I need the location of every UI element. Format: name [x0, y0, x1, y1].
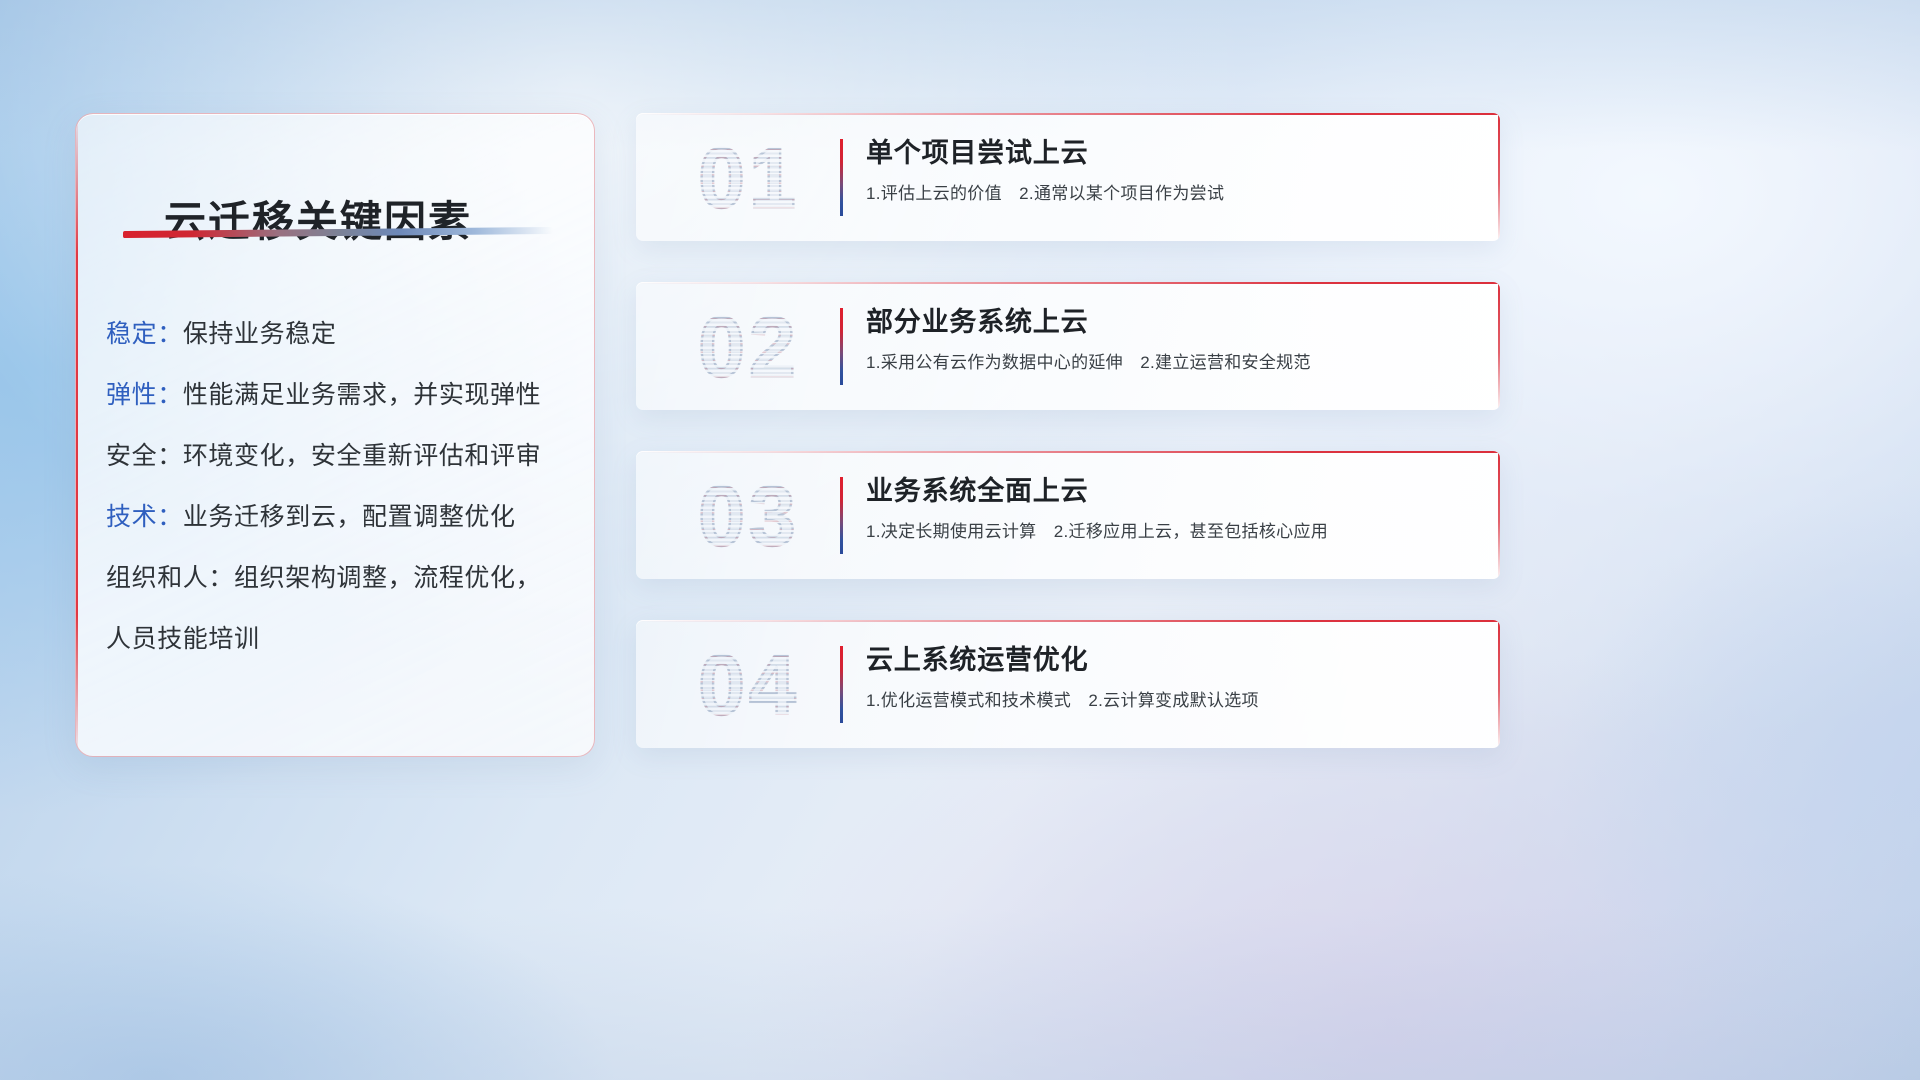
stage-card-description: 1.采用公有云作为数据中心的延伸 2.建立运营和安全规范: [866, 350, 1470, 375]
stage-number-outline: 04 04: [664, 632, 834, 738]
stage-card[interactable]: 01 01 单个项目尝试上云 1.评估上云的价值 2.通常以某个项目作为尝试: [636, 113, 1500, 241]
stage-number-glyph: 01: [664, 125, 834, 231]
stage-card-text: 部分业务系统上云 1.采用公有云作为数据中心的延伸 2.建立运营和安全规范: [866, 303, 1470, 375]
list-item-label: 安全：: [106, 442, 183, 470]
stage-number-glyph: 04: [664, 632, 834, 738]
list-item-text: 环境变化，安全重新评估和评审: [183, 442, 541, 470]
stage-number-glyph: 02: [664, 294, 834, 400]
list-item: 稳定：保持业务稳定: [106, 304, 568, 365]
list-item: 人员技能培训: [106, 609, 568, 670]
key-factors-list: 稳定：保持业务稳定 弹性：性能满足业务需求，并实现弹性 安全：环境变化，安全重新…: [106, 304, 568, 670]
stage-card-description: 1.评估上云的价值 2.通常以某个项目作为尝试: [866, 181, 1470, 206]
stage-card-description: 1.决定长期使用云计算 2.迁移应用上云，甚至包括核心应用: [866, 519, 1470, 544]
stage-number-outline: 01 01: [664, 125, 834, 231]
stage-card-text: 业务系统全面上云 1.决定长期使用云计算 2.迁移应用上云，甚至包括核心应用: [866, 472, 1470, 544]
slide-stage: 云迁移关键因素 稳定：保持业务稳定 弹性：性能满足业务需求，并实现弹性 安全：环…: [0, 0, 1920, 1080]
migration-stage-cards: 01 01 单个项目尝试上云 1.评估上云的价值 2.通常以某个项目作为尝试 0…: [636, 113, 1500, 789]
list-item-label: 稳定：: [106, 320, 183, 348]
key-factors-panel: 云迁移关键因素 稳定：保持业务稳定 弹性：性能满足业务需求，并实现弹性 安全：环…: [75, 113, 595, 757]
stage-card-title: 云上系统运营优化: [866, 641, 1470, 679]
list-item-label: 组织和人：: [106, 564, 234, 592]
accent-divider-bar: [840, 477, 843, 554]
list-item-label: 技术：: [106, 503, 183, 531]
stage-card-title: 部分业务系统上云: [866, 303, 1470, 341]
stage-number-glyph: 03: [664, 463, 834, 569]
accent-divider-bar: [840, 646, 843, 723]
list-item-text: 业务迁移到云，配置调整优化: [183, 503, 516, 531]
stage-card-title: 单个项目尝试上云: [866, 134, 1470, 172]
stage-card-description: 1.优化运营模式和技术模式 2.云计算变成默认选项: [866, 688, 1470, 713]
stage-number-glyph-tint: 01: [664, 125, 834, 231]
list-item: 组织和人：组织架构调整，流程优化，: [106, 548, 568, 609]
accent-divider-bar: [840, 139, 843, 216]
accent-divider-bar: [840, 308, 843, 385]
list-item-label: 弹性：: [106, 381, 183, 409]
list-item-text: 人员技能培训: [106, 625, 260, 653]
list-item: 技术：业务迁移到云，配置调整优化: [106, 487, 568, 548]
list-item-text: 保持业务稳定: [183, 320, 337, 348]
stage-card[interactable]: 03 03 业务系统全面上云 1.决定长期使用云计算 2.迁移应用上云，甚至包括…: [636, 451, 1500, 579]
stage-card-title: 业务系统全面上云: [866, 472, 1470, 510]
stage-number-glyph-tint: 02: [664, 294, 834, 400]
list-item-text: 性能满足业务需求，并实现弹性: [183, 381, 541, 409]
stage-number-outline: 02 02: [664, 294, 834, 400]
list-item: 安全：环境变化，安全重新评估和评审: [106, 426, 568, 487]
stage-number-glyph-tint: 03: [664, 463, 834, 569]
list-item-text: 组织架构调整，流程优化，: [234, 564, 541, 592]
stage-number-outline: 03 03: [664, 463, 834, 569]
page-title: 云迁移关键因素: [164, 188, 472, 249]
stage-card-text: 云上系统运营优化 1.优化运营模式和技术模式 2.云计算变成默认选项: [866, 641, 1470, 713]
list-item: 弹性：性能满足业务需求，并实现弹性: [106, 365, 568, 426]
stage-card[interactable]: 04 04 云上系统运营优化 1.优化运营模式和技术模式 2.云计算变成默认选项: [636, 620, 1500, 748]
stage-number-glyph-tint: 04: [664, 632, 834, 738]
stage-card[interactable]: 02 02 部分业务系统上云 1.采用公有云作为数据中心的延伸 2.建立运营和安…: [636, 282, 1500, 410]
stage-card-text: 单个项目尝试上云 1.评估上云的价值 2.通常以某个项目作为尝试: [866, 134, 1470, 206]
